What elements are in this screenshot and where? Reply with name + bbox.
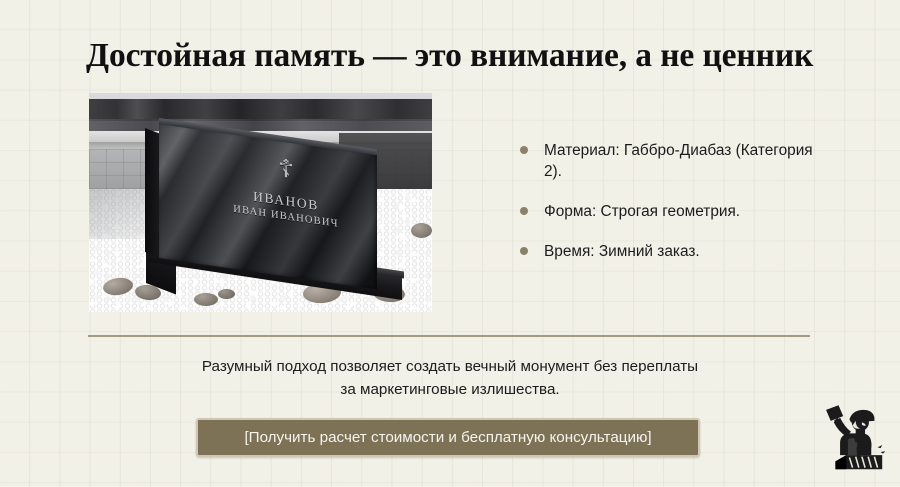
stonemason-logo-icon xyxy=(812,398,890,478)
list-item-label: Время: Зимний заказ. xyxy=(544,243,700,260)
photo-pebble xyxy=(194,293,218,306)
photo-pebble xyxy=(218,289,235,299)
caption-line-2: за маркетинговые излишества. xyxy=(130,378,770,401)
photo-distant-monuments-row xyxy=(89,99,432,121)
horizontal-divider xyxy=(88,335,810,337)
slide-canvas: Достойная память — это внимание, а не це… xyxy=(0,0,900,487)
cta-button[interactable]: [Получить расчет стоимости и бесплатную … xyxy=(196,418,700,457)
list-item-label: Форма: Строгая геометрия. xyxy=(544,203,740,220)
caption-text: Разумный подход позволяет создать вечный… xyxy=(130,355,770,401)
list-item: Время: Зимний заказ. xyxy=(518,241,828,262)
stonemason-logo xyxy=(812,398,890,478)
page-title: Достойная память — это внимание, а не це… xyxy=(86,36,826,76)
list-item: Форма: Строгая геометрия. xyxy=(518,201,828,222)
bullet-dot-icon xyxy=(520,247,528,255)
granite-headstone-photo: ☦ ИВАНОВ ИВАН ИВАНОВИЧ xyxy=(89,93,432,312)
list-item: Материал: Габбро-Диабаз (Категория 2). xyxy=(518,140,828,182)
bullet-dot-icon xyxy=(520,207,528,215)
caption-line-1: Разумный подход позволяет создать вечный… xyxy=(130,355,770,378)
photo-pebble xyxy=(411,223,432,238)
specs-bullet-list: Материал: Габбро-Диабаз (Категория 2). Ф… xyxy=(518,140,828,262)
photo-stele-side-face xyxy=(145,128,160,258)
list-item-label: Материал: Габбро-Диабаз (Категория 2). xyxy=(544,142,813,180)
bullet-dot-icon xyxy=(520,146,528,154)
